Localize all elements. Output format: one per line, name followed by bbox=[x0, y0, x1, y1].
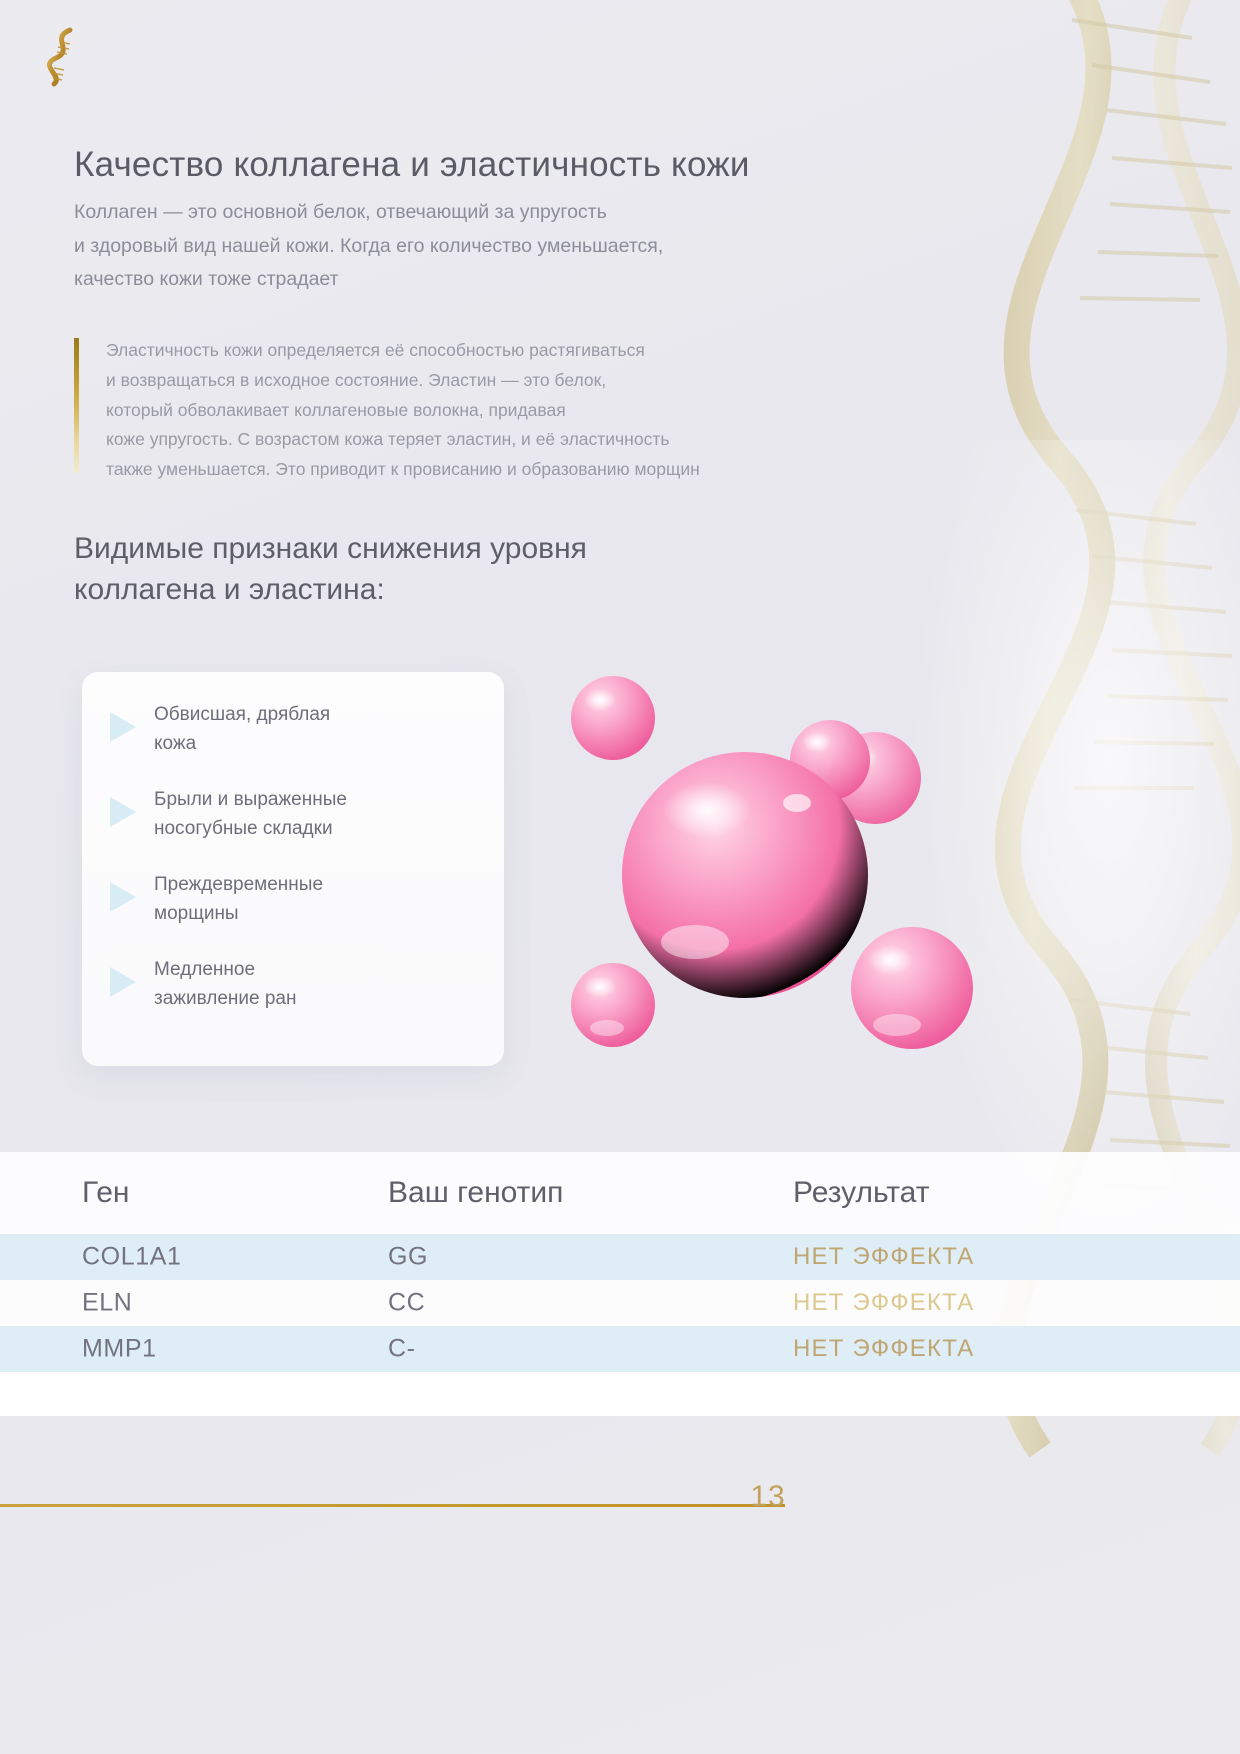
signs-list: Обвисшая, дряблая кожа Брыли и выраженны… bbox=[110, 700, 486, 1014]
list-item-text: Обвисшая, дряблая кожа bbox=[154, 700, 330, 759]
genotype-table: Ген Ваш генотип Результат COL1A1 GG НЕТ … bbox=[0, 1152, 1240, 1416]
intro-line-3: качество кожи тоже страдает bbox=[74, 263, 974, 297]
quote-line-5: также уменьшается. Это приводит к провис… bbox=[106, 455, 1006, 485]
cell-result: НЕТ ЭФФЕКТА bbox=[793, 1243, 974, 1271]
page-number: 13 bbox=[738, 1480, 798, 1514]
table-row: COL1A1 GG НЕТ ЭФФЕКТА bbox=[0, 1234, 1240, 1280]
list-item: Брыли и выраженные носогубные складки bbox=[110, 785, 486, 844]
signs-card: Обвисшая, дряблая кожа Брыли и выраженны… bbox=[82, 672, 504, 1066]
footer-rule bbox=[0, 1504, 785, 1507]
list-item-line-1: Обвисшая, дряблая bbox=[154, 704, 330, 725]
triangle-right-icon bbox=[110, 712, 136, 742]
signs-heading: Видимые признаки снижения уровня коллаге… bbox=[74, 528, 904, 611]
quote-accent-bar bbox=[74, 338, 79, 473]
list-item-text: Брыли и выраженные носогубные складки bbox=[154, 785, 347, 844]
list-item-line-1: Преждевременные bbox=[154, 874, 323, 895]
intro-paragraph: Коллаген — это основной белок, отвечающи… bbox=[74, 196, 974, 297]
cell-gene: MMP1 bbox=[82, 1335, 157, 1364]
list-item-line-1: Брыли и выраженные bbox=[154, 789, 347, 810]
table-row: ELN CC НЕТ ЭФФЕКТА bbox=[0, 1280, 1240, 1326]
cell-genotype: CC bbox=[388, 1289, 425, 1318]
list-item-line-2: морщины bbox=[154, 903, 239, 924]
list-item-text: Преждевременные морщины bbox=[154, 870, 323, 929]
quote-line-3: который обволакивает коллагеновые волокн… bbox=[106, 396, 1006, 426]
list-item: Обвисшая, дряблая кожа bbox=[110, 700, 486, 759]
cell-result: НЕТ ЭФФЕКТА bbox=[793, 1289, 974, 1317]
quote-line-4: коже упругость. С возрастом кожа теряет … bbox=[106, 425, 1006, 455]
triangle-right-icon bbox=[110, 967, 136, 997]
cell-gene: COL1A1 bbox=[82, 1243, 182, 1272]
list-item: Медленное заживление ран bbox=[110, 955, 486, 1014]
report-page: Качество коллагена и эластичность кожи К… bbox=[0, 0, 1240, 1754]
table-footer-spacer bbox=[0, 1372, 1240, 1416]
quote-line-2: и возвращаться в исходное состояние. Эла… bbox=[106, 366, 1006, 396]
list-item-text: Медленное заживление ран bbox=[154, 955, 297, 1014]
quote-block: Эластичность кожи определяется её способ… bbox=[74, 336, 1006, 485]
column-header-result: Результат bbox=[793, 1176, 929, 1210]
signs-heading-line-1: Видимые признаки снижения уровня bbox=[74, 528, 904, 569]
page-title: Качество коллагена и эластичность кожи bbox=[74, 143, 1014, 187]
intro-line-2: и здоровый вид нашей кожи. Когда его кол… bbox=[74, 230, 974, 264]
cell-genotype: C- bbox=[388, 1335, 416, 1364]
collagen-bubbles-illustration bbox=[545, 660, 1065, 1080]
page-footer: 13 bbox=[0, 1476, 1240, 1536]
cell-result: НЕТ ЭФФЕКТА bbox=[793, 1335, 974, 1363]
cell-gene: ELN bbox=[82, 1289, 132, 1318]
signs-heading-line-2: коллагена и эластина: bbox=[74, 569, 904, 610]
list-item-line-2: кожа bbox=[154, 733, 196, 754]
column-header-genotype: Ваш генотип bbox=[388, 1176, 563, 1210]
list-item: Преждевременные морщины bbox=[110, 870, 486, 929]
triangle-right-icon bbox=[110, 797, 136, 827]
dna-helix-logo bbox=[40, 26, 86, 88]
list-item-line-2: носогубные складки bbox=[154, 818, 333, 839]
quote-line-1: Эластичность кожи определяется её способ… bbox=[106, 336, 1006, 366]
list-item-line-1: Медленное bbox=[154, 959, 255, 980]
triangle-right-icon bbox=[110, 882, 136, 912]
table-header-row: Ген Ваш генотип Результат bbox=[0, 1152, 1240, 1234]
list-item-line-2: заживление ран bbox=[154, 988, 297, 1009]
table-row: MMP1 C- НЕТ ЭФФЕКТА bbox=[0, 1326, 1240, 1372]
column-header-gene: Ген bbox=[82, 1176, 130, 1210]
cell-genotype: GG bbox=[388, 1243, 428, 1272]
intro-line-1: Коллаген — это основной белок, отвечающи… bbox=[74, 196, 974, 230]
